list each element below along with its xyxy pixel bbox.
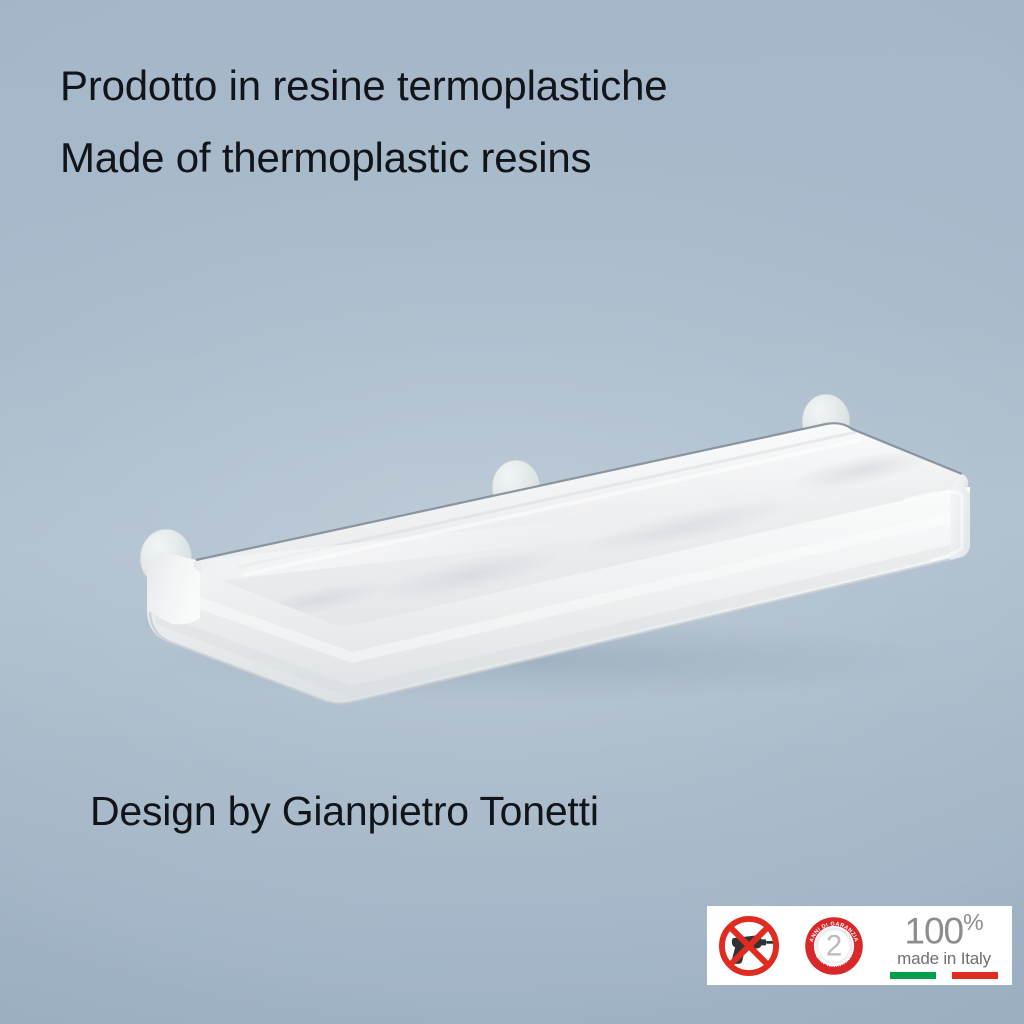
flag-green-bar — [890, 972, 936, 979]
no-drill-icon — [716, 913, 782, 979]
italian-flag-icon — [890, 972, 998, 979]
warranty-seal-icon: 2 ANNI DI GARANZIA YEAR WARRANTY — [802, 914, 866, 978]
made-in-italy-percent: 100% — [904, 912, 983, 948]
designer-credit: Design by Gianpietro Tonetti — [90, 788, 599, 835]
certification-badge-strip: 2 ANNI DI GARANZIA YEAR WARRANTY 100% ma… — [707, 906, 1012, 985]
headline-english: Made of thermoplastic resins — [60, 134, 591, 182]
flag-white-bar — [936, 972, 952, 979]
flag-red-bar — [952, 972, 998, 979]
product-marketing-image: Prodotto in resine termoplastiche Made o… — [0, 0, 1024, 1024]
warranty-badge: 2 ANNI DI GARANZIA YEAR WARRANTY — [802, 914, 866, 978]
percent-value: 100 — [904, 911, 963, 952]
percent-sign: % — [963, 909, 983, 935]
warranty-years: 2 — [825, 929, 841, 962]
made-in-italy-label: made in Italy — [897, 950, 991, 968]
headline-italian: Prodotto in resine termoplastiche — [60, 62, 667, 110]
no-drill-badge — [716, 913, 782, 979]
made-in-italy-badge: 100% made in Italy — [885, 912, 1003, 980]
